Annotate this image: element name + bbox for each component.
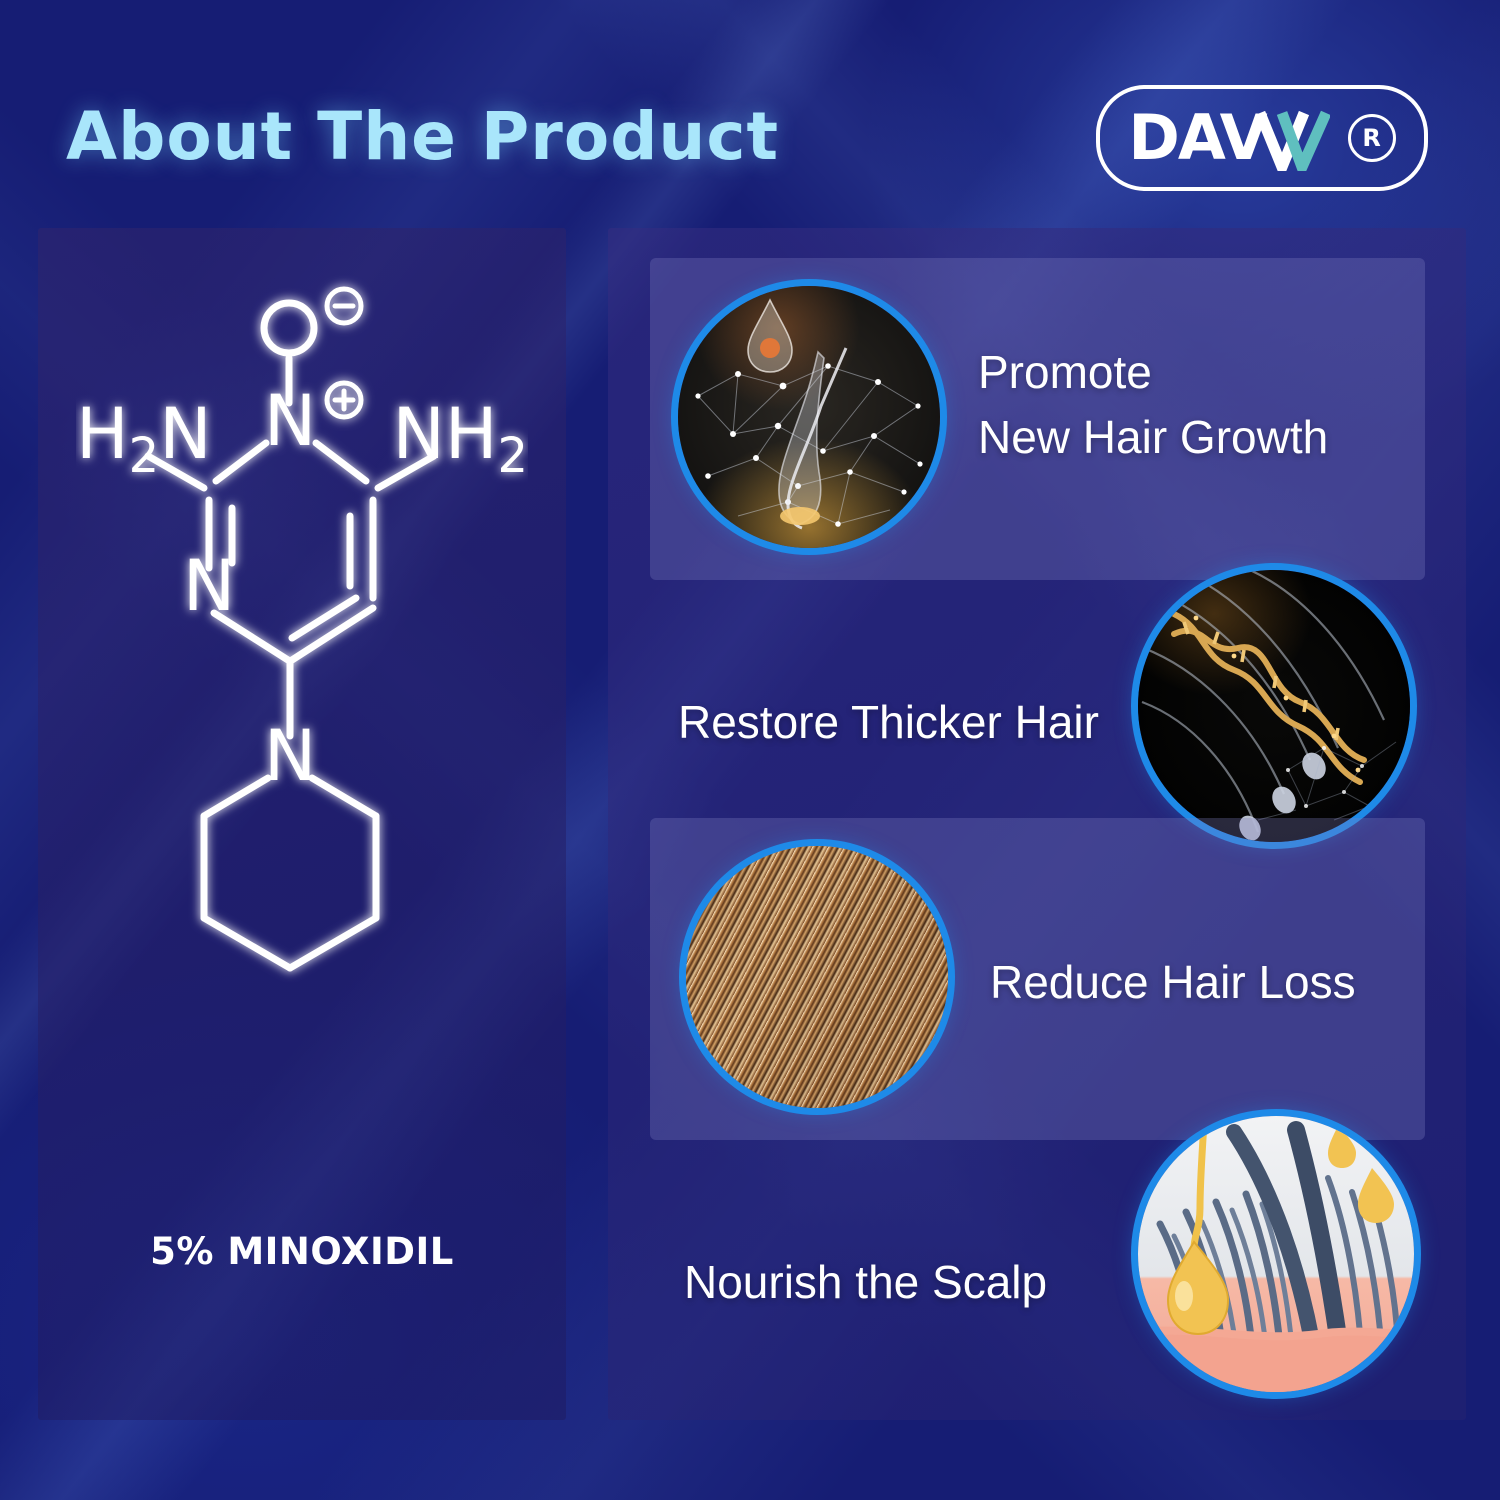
- brand-logo: DAV R: [1096, 85, 1428, 191]
- hair-follicle-network-icon: [678, 286, 940, 548]
- feature-label-line1: Promote: [978, 340, 1398, 405]
- feature-label-restore-thicker-hair: Restore Thicker Hair: [678, 690, 1148, 755]
- molecule-panel: N H2N NH2 N N 5% MINOXIDIL: [38, 228, 566, 1420]
- feature-card-restore-thicker-hair[interactable]: Restore Thicker Hair: [650, 598, 1425, 830]
- scalp-oil-drop-icon: [1138, 1116, 1414, 1392]
- feature-label-promote-new-hair-growth: Promote New Hair Growth: [978, 340, 1398, 471]
- logo-wordmark-group: DAV: [1128, 105, 1329, 171]
- check-mark-icon: [1256, 109, 1330, 171]
- dna-hair-strands-icon: [1138, 570, 1410, 842]
- feature-label-nourish-the-scalp: Nourish the Scalp: [684, 1250, 1154, 1315]
- brown-hair-texture-icon: [686, 846, 948, 1108]
- feature-card-reduce-hair-loss[interactable]: Reduce Hair Loss: [650, 818, 1425, 1140]
- svg-text:NH2: NH2: [392, 393, 528, 484]
- feature-label-line1: Reduce Hair Loss: [990, 950, 1410, 1015]
- registered-trademark-icon: R: [1348, 114, 1396, 162]
- minoxidil-structure-diagram: N H2N NH2 N N: [76, 268, 528, 1068]
- svg-text:N: N: [264, 380, 316, 462]
- svg-text:N: N: [183, 545, 235, 627]
- infographic-canvas: About The Product DAV R: [0, 0, 1500, 1500]
- feature-label-reduce-hair-loss: Reduce Hair Loss: [990, 950, 1410, 1015]
- feature-label-line2: New Hair Growth: [978, 405, 1398, 470]
- minoxidil-caption: 5% MINOXIDIL: [38, 1230, 566, 1273]
- feature-card-nourish-the-scalp[interactable]: Nourish the Scalp: [650, 1158, 1425, 1390]
- logo-wordmark: DAV: [1128, 107, 1265, 169]
- page-title: About The Product: [66, 98, 779, 175]
- svg-text:H2N: H2N: [76, 393, 212, 484]
- feature-label-line1: Nourish the Scalp: [684, 1250, 1154, 1315]
- feature-label-line1: Restore Thicker Hair: [678, 690, 1148, 755]
- svg-text:N: N: [264, 715, 316, 797]
- feature-card-promote-new-hair-growth[interactable]: Promote New Hair Growth: [650, 258, 1425, 580]
